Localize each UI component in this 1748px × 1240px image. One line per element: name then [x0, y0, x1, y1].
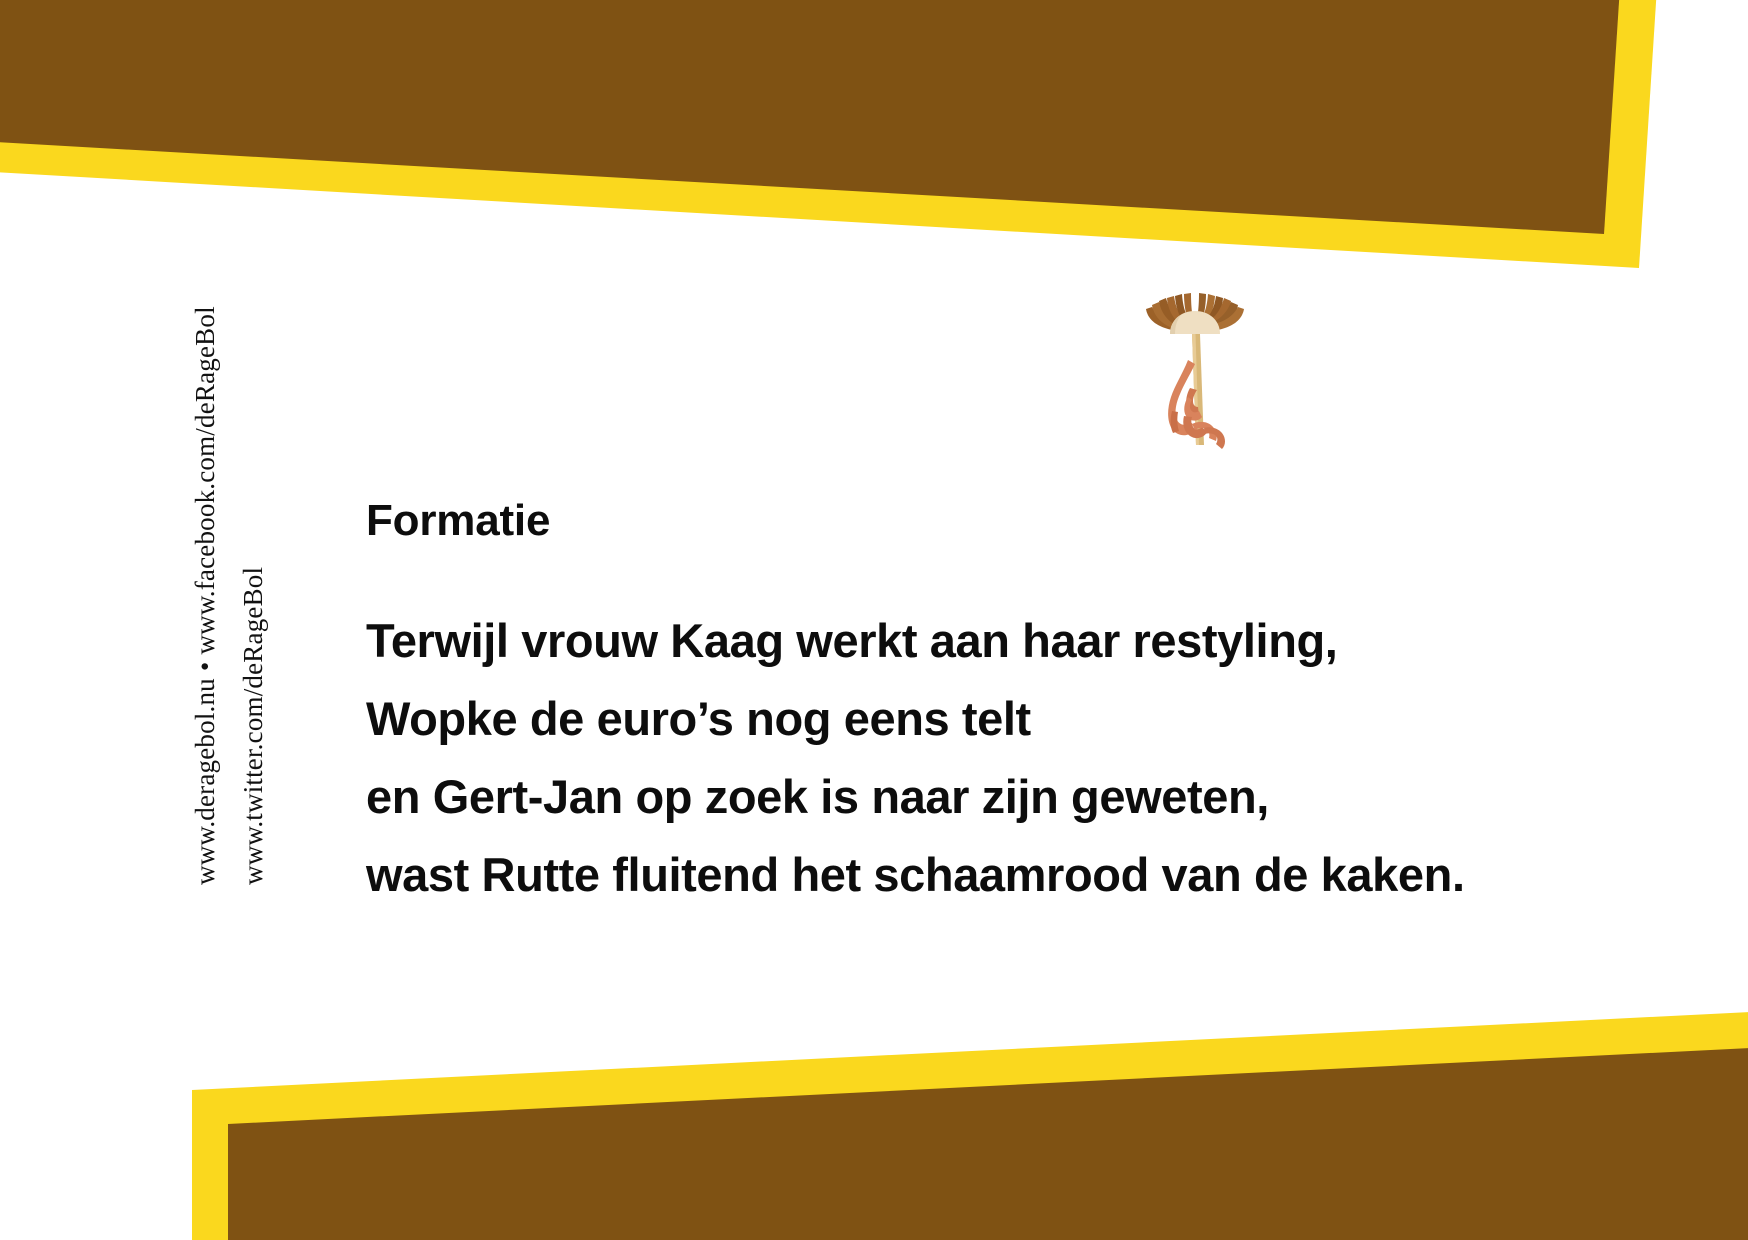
poem-title: Formatie — [366, 498, 1656, 544]
poem-body: Terwijl vrouw Kaag werkt aan haar restyl… — [366, 602, 1656, 914]
poem-line-2: Wopke de euro’s nog eens telt — [366, 680, 1656, 758]
credit-line-twitter[interactable]: www.twitter.com/deRageBol — [238, 567, 269, 885]
ragebol-illustration — [1130, 285, 1260, 475]
credit-line-website-facebook[interactable]: www.deragebol.nu • www.facebook.com/deRa… — [190, 306, 221, 885]
poem-line-4: wast Rutte fluitend het schaamrood van d… — [366, 836, 1656, 914]
poster-card: www.deragebol.nu • www.facebook.com/deRa… — [0, 0, 1748, 1240]
poem-line-1: Terwijl vrouw Kaag werkt aan haar restyl… — [366, 602, 1656, 680]
poem-block: Formatie Terwijl vrouw Kaag werkt aan ha… — [366, 498, 1656, 914]
poem-line-3: en Gert-Jan op zoek is naar zijn geweten… — [366, 758, 1656, 836]
ragebol-icon — [1130, 285, 1260, 475]
